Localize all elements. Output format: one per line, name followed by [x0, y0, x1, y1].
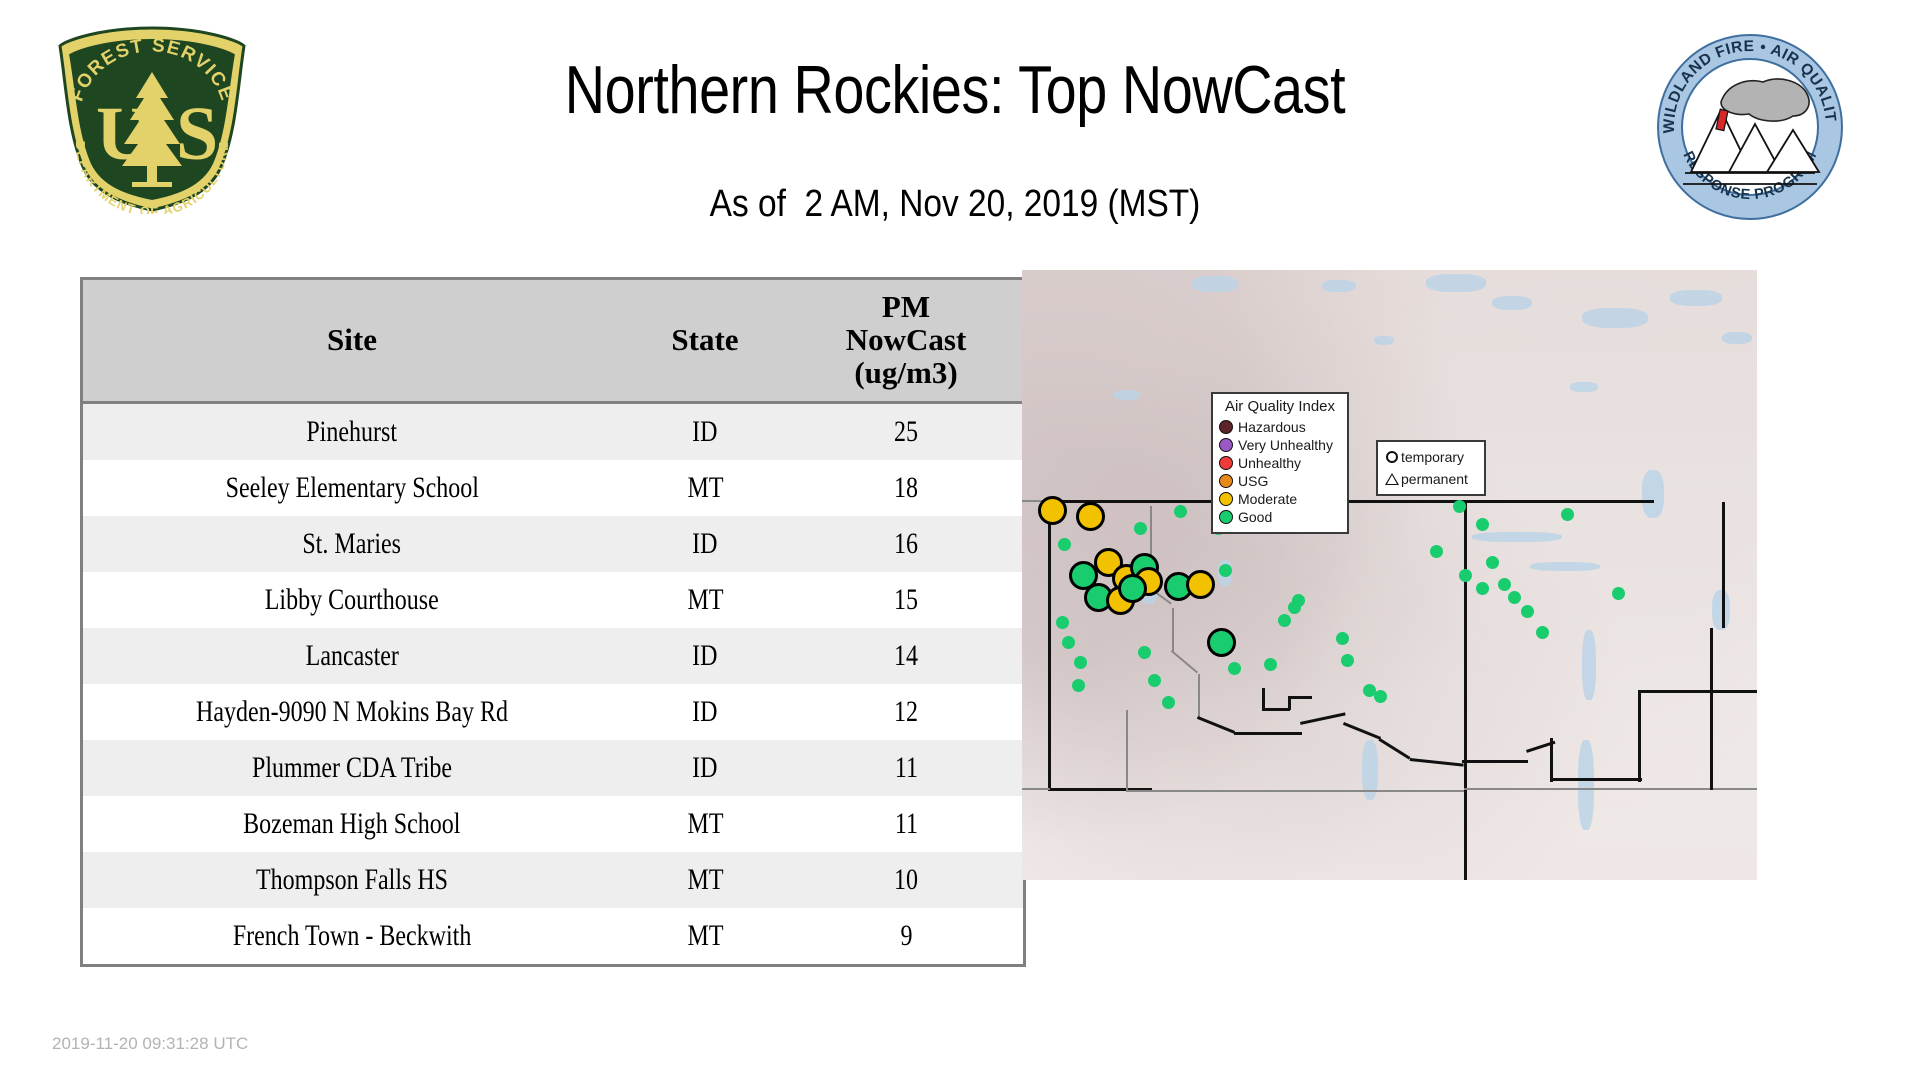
pm-nowcast-value: 14: [789, 628, 1025, 684]
monitor-dot[interactable]: [1453, 500, 1466, 513]
aqi-color-swatch-icon: [1219, 420, 1233, 434]
monitor-dot[interactable]: [1288, 601, 1301, 614]
aqi-legend-label: Moderate: [1238, 491, 1297, 507]
pm-nowcast-value: 10: [789, 852, 1025, 908]
generation-timestamp: 2019-11-20 09:31:28 UTC: [52, 1034, 248, 1054]
site-name: Pinehurst: [82, 403, 622, 461]
state-code: MT: [621, 460, 789, 516]
state-code: MT: [621, 796, 789, 852]
aqi-legend-label: Good: [1238, 509, 1272, 525]
legend-row-temporary: temporary: [1383, 446, 1479, 468]
state-code: MT: [621, 852, 789, 908]
monitor-dot[interactable]: [1476, 582, 1489, 595]
monitor-dot[interactable]: [1341, 654, 1354, 667]
monitor-type-legend: temporary permanent: [1376, 440, 1486, 496]
monitor-dot[interactable]: [1336, 632, 1349, 645]
aqi-legend-label: Very Unhealthy: [1238, 437, 1333, 453]
monitor-dot[interactable]: [1207, 628, 1236, 657]
state-code: ID: [621, 403, 789, 461]
site-name: Thompson Falls HS: [82, 852, 622, 908]
column-header-pm-nowcast: PM NowCast (ug/m3): [789, 279, 1025, 403]
monitor-dot[interactable]: [1134, 522, 1147, 535]
pm-nowcast-value: 16: [789, 516, 1025, 572]
state-code: MT: [621, 572, 789, 628]
table-row: Libby CourthouseMT15: [82, 572, 1025, 628]
page-subtitle: As of 2 AM, Nov 20, 2019 (MST): [343, 182, 1566, 226]
aqi-legend-item: Very Unhealthy: [1219, 436, 1341, 454]
table-row: PinehurstID25: [82, 403, 1025, 461]
top-nowcast-table-container: Site State PM NowCast (ug/m3) PinehurstI…: [80, 277, 1000, 967]
table-row: Seeley Elementary SchoolMT18: [82, 460, 1025, 516]
permanent-triangle-icon: [1383, 473, 1401, 485]
site-name: Hayden-9090 N Mokins Bay Rd: [82, 684, 622, 740]
aqi-color-swatch-icon: [1219, 456, 1233, 470]
pm-nowcast-value: 9: [789, 908, 1025, 966]
wildland-fire-air-quality-logo: WILDLAND FIRE • AIR QUALITY RESPONSE PRO…: [1655, 32, 1845, 222]
pm-nowcast-value: 18: [789, 460, 1025, 516]
monitor-dot[interactable]: [1174, 505, 1187, 518]
state-code: MT: [621, 908, 789, 966]
column-header-pm-line1: PM: [793, 290, 1019, 323]
aqi-legend-label: Hazardous: [1238, 419, 1306, 435]
fs-logo-letter-s: S: [176, 92, 218, 176]
column-header-state: State: [621, 279, 789, 403]
monitor-dot[interactable]: [1278, 614, 1291, 627]
aqi-color-swatch-icon: [1219, 474, 1233, 488]
monitor-dot[interactable]: [1536, 626, 1549, 639]
monitor-dot[interactable]: [1476, 518, 1489, 531]
pm-nowcast-value: 25: [789, 403, 1025, 461]
state-code: ID: [621, 628, 789, 684]
monitor-dot[interactable]: [1138, 646, 1151, 659]
site-name: Lancaster: [82, 628, 622, 684]
temporary-circle-icon: [1383, 451, 1401, 463]
monitor-dot[interactable]: [1521, 605, 1534, 618]
aqi-color-swatch-icon: [1219, 438, 1233, 452]
pm-nowcast-value: 15: [789, 572, 1025, 628]
monitor-dot-layer: [1022, 270, 1757, 880]
legend-row-permanent: permanent: [1383, 468, 1479, 490]
column-header-pm-line2: NowCast: [793, 323, 1019, 356]
pm-nowcast-value: 11: [789, 796, 1025, 852]
table-row: Hayden-9090 N Mokins Bay RdID12: [82, 684, 1025, 740]
us-forest-service-shield-logo: FOREST SERVICE U S DEPARTMENT OF AGRICUL…: [52, 24, 252, 214]
aqi-legend-title: Air Quality Index: [1219, 398, 1341, 415]
pm-nowcast-value: 11: [789, 740, 1025, 796]
table-row: LancasterID14: [82, 628, 1025, 684]
site-name: Libby Courthouse: [82, 572, 622, 628]
top-nowcast-table: Site State PM NowCast (ug/m3) PinehurstI…: [80, 277, 1026, 967]
table-body: PinehurstID25Seeley Elementary SchoolMT1…: [82, 403, 1025, 966]
aqi-legend-item: USG: [1219, 472, 1341, 490]
monitor-dot[interactable]: [1186, 570, 1215, 599]
air-quality-monitor-map[interactable]: [1022, 270, 1757, 880]
monitor-dot[interactable]: [1508, 591, 1521, 604]
monitor-dot[interactable]: [1072, 679, 1085, 692]
monitor-dot[interactable]: [1148, 674, 1161, 687]
table-header-row: Site State PM NowCast (ug/m3): [82, 279, 1025, 403]
state-code: ID: [621, 740, 789, 796]
page-title: Northern Rockies: Top NowCast: [385, 52, 1525, 128]
aqi-legend-label: Unhealthy: [1238, 455, 1301, 471]
site-name: French Town - Beckwith: [82, 908, 622, 966]
air-quality-index-legend: Air Quality Index HazardousVery Unhealth…: [1211, 392, 1349, 534]
aqi-legend-item: Moderate: [1219, 490, 1341, 508]
table-head: Site State PM NowCast (ug/m3): [82, 279, 1025, 403]
monitor-dot[interactable]: [1056, 616, 1069, 629]
table-row: Bozeman High SchoolMT11: [82, 796, 1025, 852]
column-header-pm-line3: (ug/m3): [793, 356, 1019, 389]
site-name: Bozeman High School: [82, 796, 622, 852]
state-code: ID: [621, 516, 789, 572]
monitor-dot[interactable]: [1612, 587, 1625, 600]
monitor-dot[interactable]: [1118, 574, 1147, 603]
monitor-dot[interactable]: [1228, 662, 1241, 675]
monitor-dot[interactable]: [1430, 545, 1443, 558]
site-name: Seeley Elementary School: [82, 460, 622, 516]
page-header: FOREST SERVICE U S DEPARTMENT OF AGRICUL…: [0, 0, 1920, 225]
table-row: Thompson Falls HSMT10: [82, 852, 1025, 908]
monitor-dot[interactable]: [1058, 538, 1071, 551]
monitor-dot[interactable]: [1074, 656, 1087, 669]
aqi-legend-label: USG: [1238, 473, 1268, 489]
site-name: St. Maries: [82, 516, 622, 572]
column-header-site: Site: [82, 279, 622, 403]
legend-label-temporary: temporary: [1401, 449, 1464, 465]
monitor-dot[interactable]: [1486, 556, 1499, 569]
table-row: St. MariesID16: [82, 516, 1025, 572]
aqi-color-swatch-icon: [1219, 510, 1233, 524]
monitor-dot[interactable]: [1062, 636, 1075, 649]
aqi-legend-rows: HazardousVery UnhealthyUnhealthyUSGModer…: [1219, 418, 1341, 526]
pm-nowcast-value: 12: [789, 684, 1025, 740]
monitor-dot[interactable]: [1219, 564, 1232, 577]
aqi-legend-item: Good: [1219, 508, 1341, 526]
monitor-dot[interactable]: [1162, 696, 1175, 709]
table-row: Plummer CDA TribeID11: [82, 740, 1025, 796]
aqi-legend-item: Hazardous: [1219, 418, 1341, 436]
state-code: ID: [621, 684, 789, 740]
monitor-dot[interactable]: [1076, 502, 1105, 531]
site-name: Plummer CDA Tribe: [82, 740, 622, 796]
monitor-dot[interactable]: [1459, 569, 1472, 582]
monitor-dot[interactable]: [1374, 690, 1387, 703]
monitor-dot[interactable]: [1498, 578, 1511, 591]
monitor-dot[interactable]: [1264, 658, 1277, 671]
aqi-legend-item: Unhealthy: [1219, 454, 1341, 472]
monitor-dot[interactable]: [1038, 496, 1067, 525]
monitor-dot[interactable]: [1561, 508, 1574, 521]
legend-label-permanent: permanent: [1401, 471, 1468, 487]
table-row: French Town - BeckwithMT9: [82, 908, 1025, 966]
aqi-color-swatch-icon: [1219, 492, 1233, 506]
